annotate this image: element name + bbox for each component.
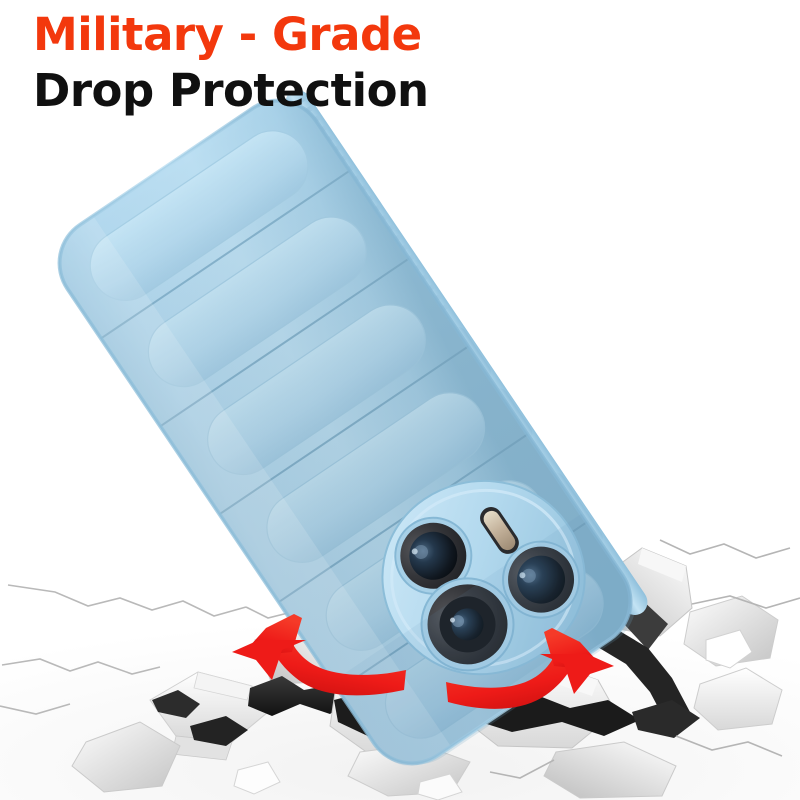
impact-arrow-right: [446, 628, 614, 709]
product-marketing-image: Military - Grade Drop Protection: [0, 0, 800, 800]
impact-arrow-left: [232, 614, 406, 695]
headline-block: Military - Grade Drop Protection: [33, 12, 429, 113]
headline-line-2: Drop Protection: [33, 68, 429, 113]
impact-arrows: [0, 0, 800, 800]
headline-line-1: Military - Grade: [33, 12, 429, 57]
